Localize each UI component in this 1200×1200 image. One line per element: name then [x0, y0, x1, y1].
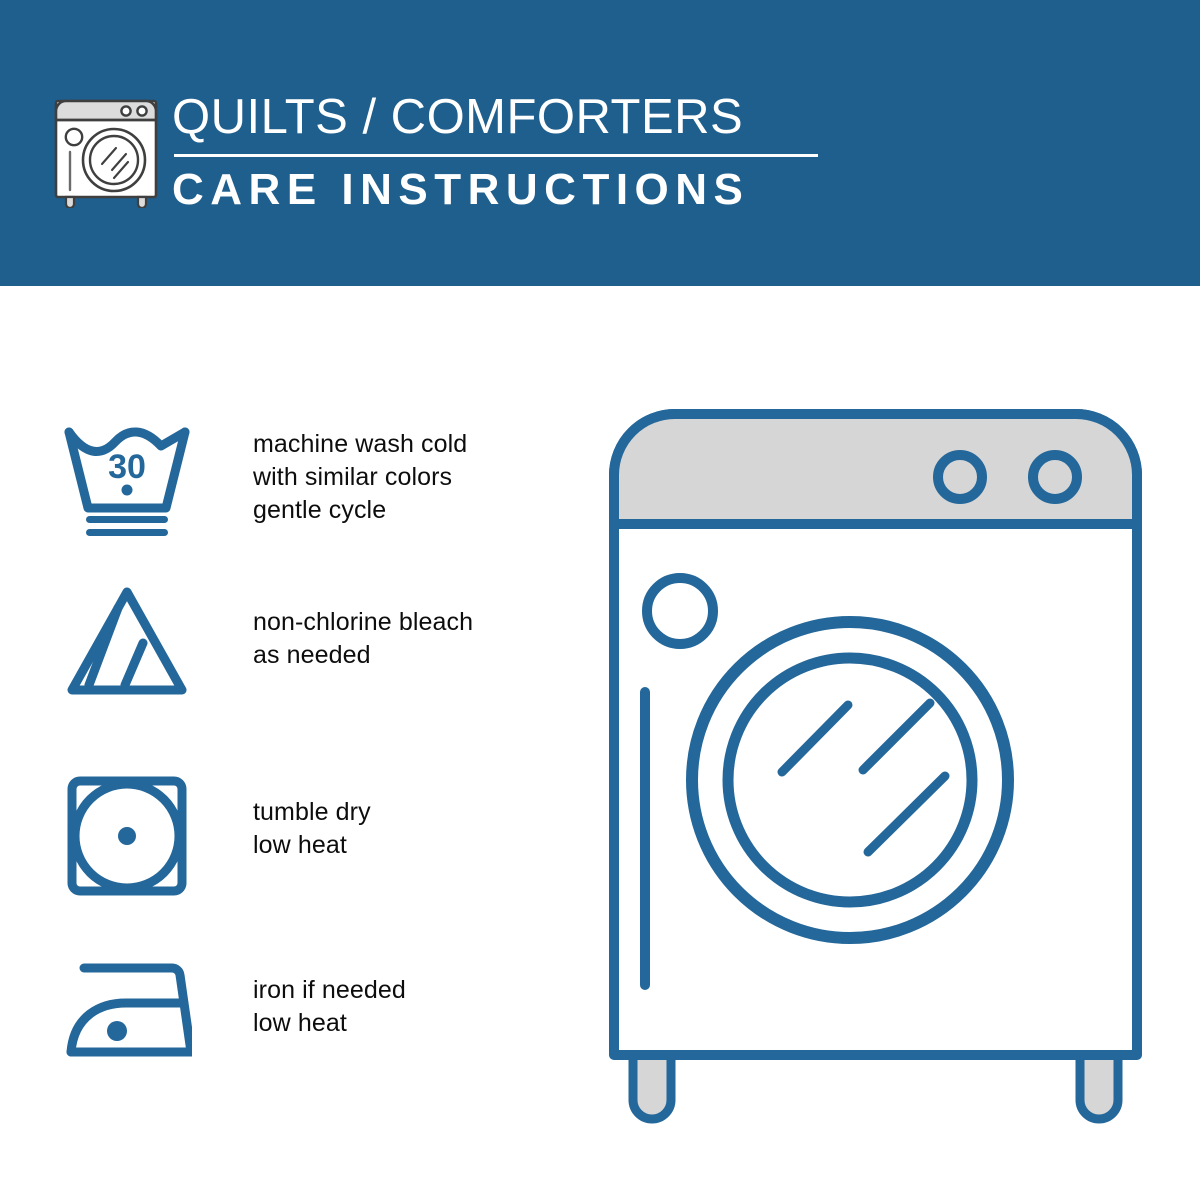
- care-line: machine wash cold: [253, 428, 467, 461]
- washing-machine-icon: [52, 84, 160, 208]
- care-line: gentle cycle: [253, 494, 467, 527]
- care-line: iron if needed: [253, 974, 406, 1007]
- front-load-washing-machine-illustration: [600, 400, 1170, 1130]
- non-chlorine-bleach-triangle-icon: [62, 582, 192, 702]
- care-line: low heat: [253, 829, 371, 862]
- care-line: tumble dry: [253, 796, 371, 829]
- care-text-wash: machine wash cold with similar colors ge…: [253, 428, 467, 527]
- machine-wash-basin-icon: 30: [62, 416, 192, 536]
- care-text-iron: iron if needed low heat: [253, 974, 406, 1040]
- care-instructions-list: 30 machine wash cold with similar colors…: [0, 286, 560, 1200]
- leg-right: [1080, 1050, 1118, 1119]
- care-line: as needed: [253, 639, 473, 672]
- page-title-primary: QUILTS / COMFORTERS: [172, 88, 832, 146]
- wash-temp-value: 30: [108, 448, 146, 486]
- detergent-drawer-circle: [647, 578, 713, 644]
- care-text-tumble-dry: tumble dry low heat: [253, 796, 371, 862]
- knob-left: [938, 455, 982, 499]
- care-line: low heat: [253, 1007, 406, 1040]
- iron-icon: [62, 956, 192, 1076]
- title-divider: [174, 154, 818, 157]
- knob-right: [1033, 455, 1077, 499]
- care-line: non-chlorine bleach: [253, 606, 473, 639]
- header-titles: QUILTS / COMFORTERS CARE INSTRUCTIONS: [172, 88, 832, 217]
- page-title-secondary: CARE INSTRUCTIONS: [172, 163, 832, 217]
- leg-left: [633, 1050, 671, 1119]
- care-line: with similar colors: [253, 461, 467, 494]
- care-text-bleach: non-chlorine bleach as needed: [253, 606, 473, 672]
- header-band: QUILTS / COMFORTERS CARE INSTRUCTIONS: [0, 0, 1200, 286]
- tumble-dry-square-icon: [62, 776, 192, 896]
- care-instructions-page: QUILTS / COMFORTERS CARE INSTRUCTIONS 30: [0, 0, 1200, 1200]
